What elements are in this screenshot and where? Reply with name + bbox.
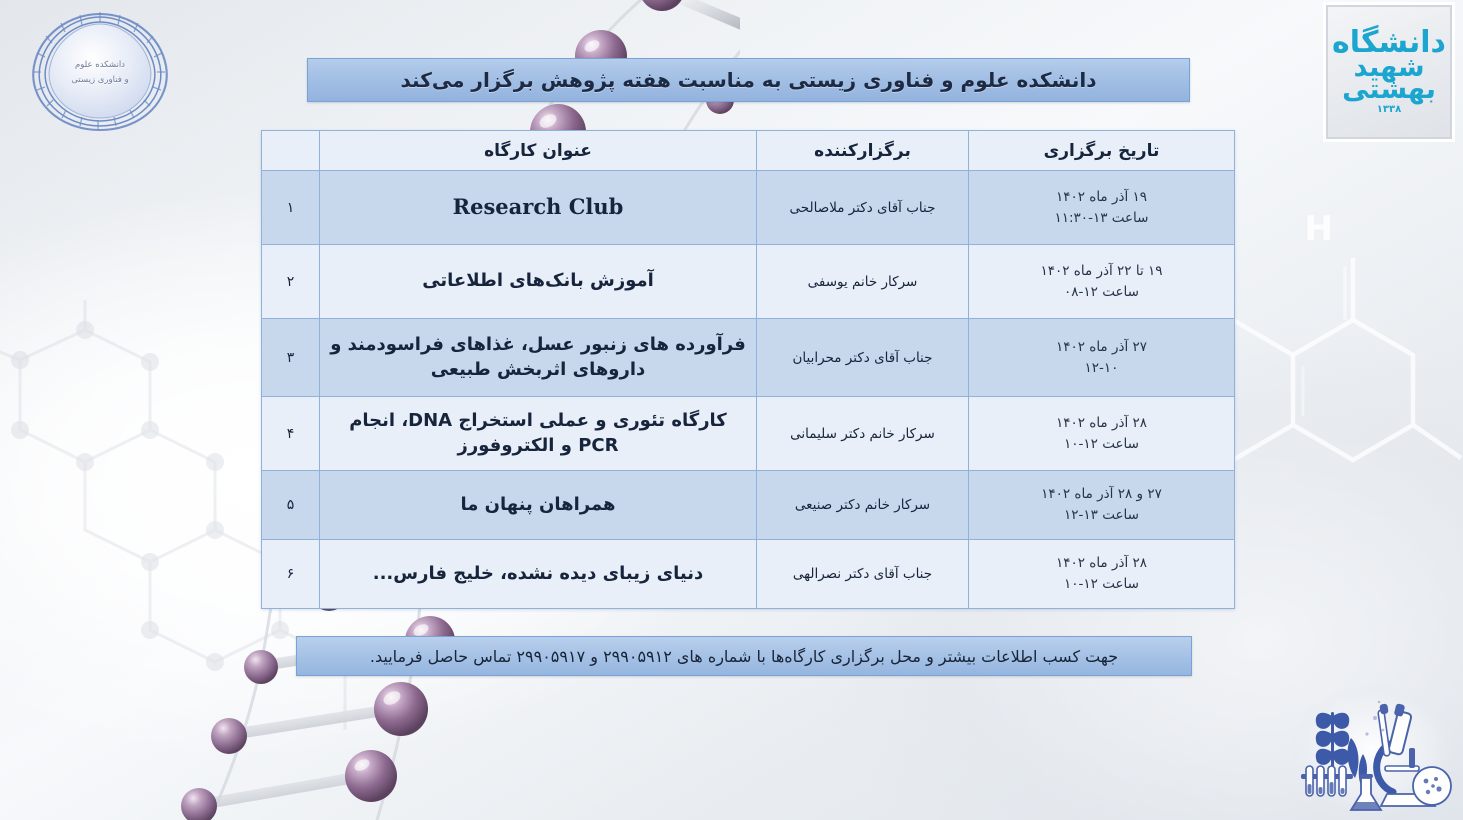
title-text: آموزش بانک‌های اطلاعاتی [328, 269, 748, 294]
cell-date: ۱۹ آذر ماه ۱۴۰۲ ساعت ۱۳-۱۱:۳۰ [969, 171, 1235, 245]
university-logo: دانشگاه شهید بهشتی ۱۳۳۸ [1323, 2, 1455, 142]
cell-number: ۶ [262, 540, 320, 609]
table-row: ۱۹ تا ۲۲ آذر ماه ۱۴۰۲ ساعت ۱۲-۰۸ سرکار خ… [262, 245, 1235, 319]
table-body: ۱۹ آذر ماه ۱۴۰۲ ساعت ۱۳-۱۱:۳۰ جناب آقای … [262, 171, 1235, 609]
cell-date: ۲۷ آذر ماه ۱۴۰۲ ۱۲-۱۰ [969, 319, 1235, 397]
cell-number: ۱ [262, 171, 320, 245]
university-logo-year: ۱۳۳۸ [1377, 104, 1401, 115]
cell-title: Research Club [320, 171, 757, 245]
cell-organizer: سرکار خانم دکتر صنیعی [757, 471, 969, 540]
poster-canvas: CH 3 H NH [0, 0, 1463, 820]
table-row: ۲۷ آذر ماه ۱۴۰۲ ۱۲-۱۰ جناب آقای دکتر محر… [262, 319, 1235, 397]
cell-organizer: جناب آقای دکتر ملاصالحی [757, 171, 969, 245]
cell-title: همراهان پنهان ما [320, 471, 757, 540]
cell-date: ۲۸ آذر ماه ۱۴۰۲ ساعت ۱۲-۱۰ [969, 540, 1235, 609]
table-row: ۲۸ آذر ماه ۱۴۰۲ ساعت ۱۲-۱۰ سرکار خانم دک… [262, 397, 1235, 471]
date-line2: ساعت ۱۲-۱۰ [977, 574, 1226, 595]
faculty-seal-line1: دانشکده علوم [14, 58, 186, 73]
cell-number: ۳ [262, 319, 320, 397]
workshops-table: تاریخ برگزاری برگزارکننده عنوان کارگاه ۱… [261, 130, 1235, 609]
table-header: تاریخ برگزاری برگزارکننده عنوان کارگاه [262, 131, 1235, 171]
date-line1: ۲۷ آذر ماه ۱۴۰۲ [977, 337, 1226, 358]
science-illustration-logo [1289, 682, 1457, 816]
cell-title: دنیای زیبای دیده نشده، خلیج فارس... [320, 540, 757, 609]
cell-number: ۵ [262, 471, 320, 540]
header-title: عنوان کارگاه [320, 131, 757, 171]
table-row: ۲۸ آذر ماه ۱۴۰۲ ساعت ۱۲-۱۰ جناب آقای دکت… [262, 540, 1235, 609]
cell-number: ۴ [262, 397, 320, 471]
table-header-row: تاریخ برگزاری برگزارکننده عنوان کارگاه [262, 131, 1235, 171]
date-line2: ساعت ۱۲-۱۰ [977, 434, 1226, 455]
cell-organizer: سرکار خانم یوسفی [757, 245, 969, 319]
date-line2: ساعت ۱۳-۱۱:۳۰ [977, 208, 1226, 229]
faculty-seal-text: دانشکده علوم و فناوری زیستی [14, 58, 186, 88]
title-text: Research Club [328, 193, 748, 222]
cell-title: فرآورده های زنبور عسل، غذاهای فراسودمند … [320, 319, 757, 397]
cell-date: ۲۷ و ۲۸ آذر ماه ۱۴۰۲ ساعت ۱۳-۱۲ [969, 471, 1235, 540]
title-text: دنیای زیبای دیده نشده، خلیج فارس... [328, 562, 748, 587]
cell-organizer: جناب آقای دکتر محرابیان [757, 319, 969, 397]
date-line2: ساعت ۱۳-۱۲ [977, 505, 1226, 526]
cell-organizer: سرکار خانم دکتر سلیمانی [757, 397, 969, 471]
date-line1: ۱۹ آذر ماه ۱۴۰۲ [977, 187, 1226, 208]
cell-number: ۲ [262, 245, 320, 319]
table-row: ۲۷ و ۲۸ آذر ماه ۱۴۰۲ ساعت ۱۳-۱۲ سرکار خا… [262, 471, 1235, 540]
cell-title: آموزش بانک‌های اطلاعاتی [320, 245, 757, 319]
cell-organizer: جناب آقای دکتر نصرالهی [757, 540, 969, 609]
header-date: تاریخ برگزاری [969, 131, 1235, 171]
date-line2: ساعت ۱۲-۰۸ [977, 282, 1226, 303]
faculty-seal-line2: و فناوری زیستی [14, 73, 186, 88]
faculty-seal-logo: دانشکده علوم و فناوری زیستی [14, 8, 186, 136]
date-line1: ۲۸ آذر ماه ۱۴۰۲ [977, 553, 1226, 574]
chem-label-h: H [1305, 209, 1333, 249]
header-organizer: برگزارکننده [757, 131, 969, 171]
title-text: همراهان پنهان ما [328, 493, 748, 518]
university-logo-line3: بهشتی [1342, 77, 1436, 103]
footer-banner-text: جهت کسب اطلاعات بیشتر و محل برگزاری کارگ… [370, 647, 1118, 666]
cell-date: ۱۹ تا ۲۲ آذر ماه ۱۴۰۲ ساعت ۱۲-۰۸ [969, 245, 1235, 319]
header-number [262, 131, 320, 171]
title-text: فرآورده های زنبور عسل، غذاهای فراسودمند … [328, 333, 748, 383]
date-line2: ۱۲-۱۰ [977, 358, 1226, 379]
title-banner-text: دانشکده علوم و فناوری زیستی به مناسبت هف… [401, 68, 1097, 92]
cell-title: کارگاه تئوری و عملی استخراج DNA، انجام P… [320, 397, 757, 471]
date-line1: ۲۸ آذر ماه ۱۴۰۲ [977, 413, 1226, 434]
table-row: ۱۹ آذر ماه ۱۴۰۲ ساعت ۱۳-۱۱:۳۰ جناب آقای … [262, 171, 1235, 245]
university-logo-inner: دانشگاه شهید بهشتی ۱۳۳۸ [1333, 12, 1445, 132]
cell-icon [1413, 767, 1451, 805]
title-text: کارگاه تئوری و عملی استخراج DNA، انجام P… [328, 409, 748, 459]
cell-date: ۲۸ آذر ماه ۱۴۰۲ ساعت ۱۲-۱۰ [969, 397, 1235, 471]
footer-banner: جهت کسب اطلاعات بیشتر و محل برگزاری کارگ… [296, 636, 1192, 676]
date-line1: ۱۹ تا ۲۲ آذر ماه ۱۴۰۲ [977, 261, 1226, 282]
date-line1: ۲۷ و ۲۸ آذر ماه ۱۴۰۲ [977, 484, 1226, 505]
title-banner: دانشکده علوم و فناوری زیستی به مناسبت هف… [307, 58, 1190, 102]
